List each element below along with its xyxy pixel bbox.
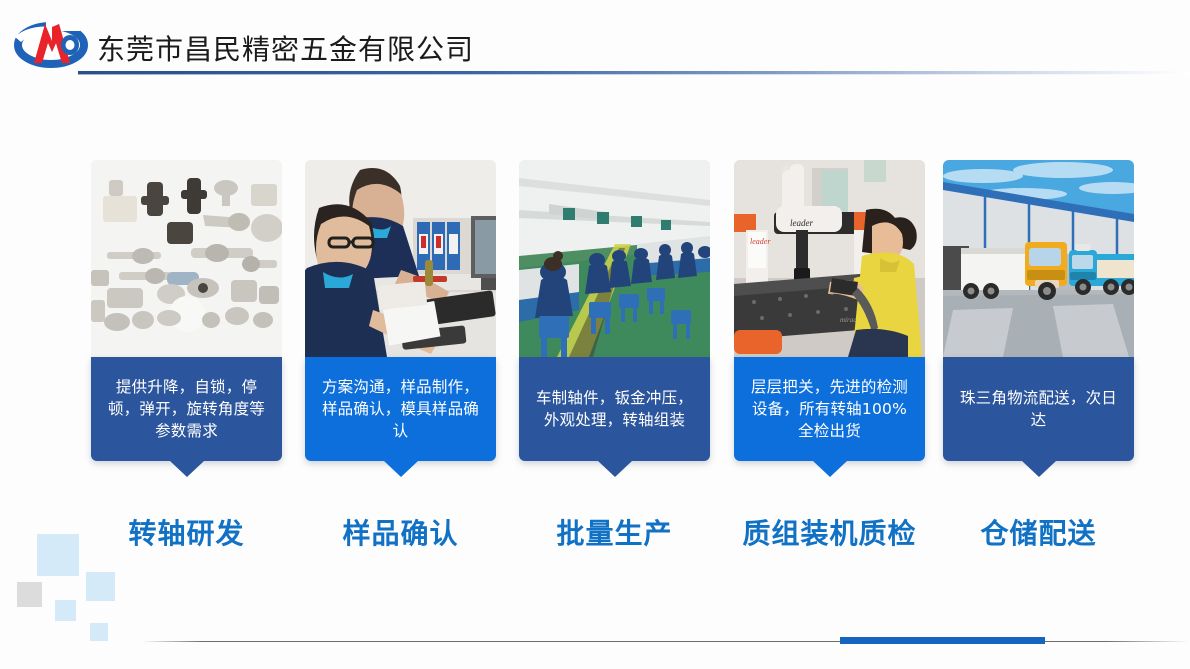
step-caption-text: 车制轴件，钣金冲压，外观处理，转轴组装	[531, 387, 698, 431]
step-caption: 方案沟通，样品制作，样品确认，模具样品确认	[305, 357, 496, 461]
process-step-5[interactable]: 珠三角物流配送，次日达 仓储配送	[943, 160, 1134, 461]
hinge-hardware-parts-photo	[91, 160, 282, 357]
step-caption: 提供升降，自锁，停顿，弹开，旋转角度等参数需求	[91, 357, 282, 461]
decorative-square-3	[17, 582, 42, 607]
changmin-logo-icon	[12, 17, 90, 69]
step-caption: 珠三角物流配送，次日达	[943, 357, 1134, 461]
step-caption: 车制轴件，钣金冲压，外观处理，转轴组装	[519, 357, 710, 461]
process-step-4[interactable]: leader leader miracle	[734, 160, 925, 461]
decorative-square-5	[90, 623, 108, 641]
process-step-3[interactable]: 车制轴件，钣金冲压，外观处理，转轴组装 批量生产	[519, 160, 710, 461]
warehouse-delivery-trucks-photo	[943, 160, 1134, 357]
decorative-square-2	[86, 572, 115, 601]
header-divider-shadow	[78, 74, 1190, 75]
svg-text:leader: leader	[750, 237, 771, 246]
decorative-square-4	[55, 600, 76, 621]
step-label: 转轴研发	[91, 512, 282, 552]
process-step-1[interactable]: 提供升降，自锁，停顿，弹开，旋转角度等参数需求 转轴研发	[91, 160, 282, 461]
process-step-2[interactable]: 方案沟通，样品制作，样品确认，模具样品确认 样品确认	[305, 160, 496, 461]
footer-accent-bar	[840, 637, 1045, 644]
assembly-line-workers-photo	[519, 160, 710, 357]
step-label: 质组装机质检	[734, 512, 925, 552]
step-caption-text: 提供升降，自锁，停顿，弹开，旋转角度等参数需求	[103, 376, 270, 442]
cmm-inspection-machine-photo: leader leader miracle	[734, 160, 925, 357]
step-label: 仓储配送	[943, 512, 1134, 552]
step-pointer	[170, 461, 204, 477]
page-header: 东莞市昌民精密五金有限公司	[0, 0, 1190, 86]
step-caption: 层层把关，先进的检测设备，所有转轴100%全检出货	[734, 357, 925, 461]
slide-canvas: 东莞市昌民精密五金有限公司	[0, 0, 1190, 669]
company-name: 东莞市昌民精密五金有限公司	[97, 28, 474, 68]
step-pointer	[813, 461, 847, 477]
step-pointer	[1022, 461, 1056, 477]
step-caption-text: 方案沟通，样品制作，样品确认，模具样品确认	[317, 376, 484, 442]
step-caption-text: 珠三角物流配送，次日达	[955, 387, 1122, 431]
svg-text:leader: leader	[790, 218, 813, 228]
step-label: 批量生产	[519, 512, 710, 552]
step-caption-text: 层层把关，先进的检测设备，所有转轴100%全检出货	[746, 376, 913, 442]
engineers-at-computer-photo	[305, 160, 496, 357]
process-flow: 提供升降，自锁，停顿，弹开，旋转角度等参数需求 转轴研发	[0, 160, 1190, 570]
step-pointer	[598, 461, 632, 477]
step-pointer	[384, 461, 418, 477]
step-label: 样品确认	[305, 512, 496, 552]
